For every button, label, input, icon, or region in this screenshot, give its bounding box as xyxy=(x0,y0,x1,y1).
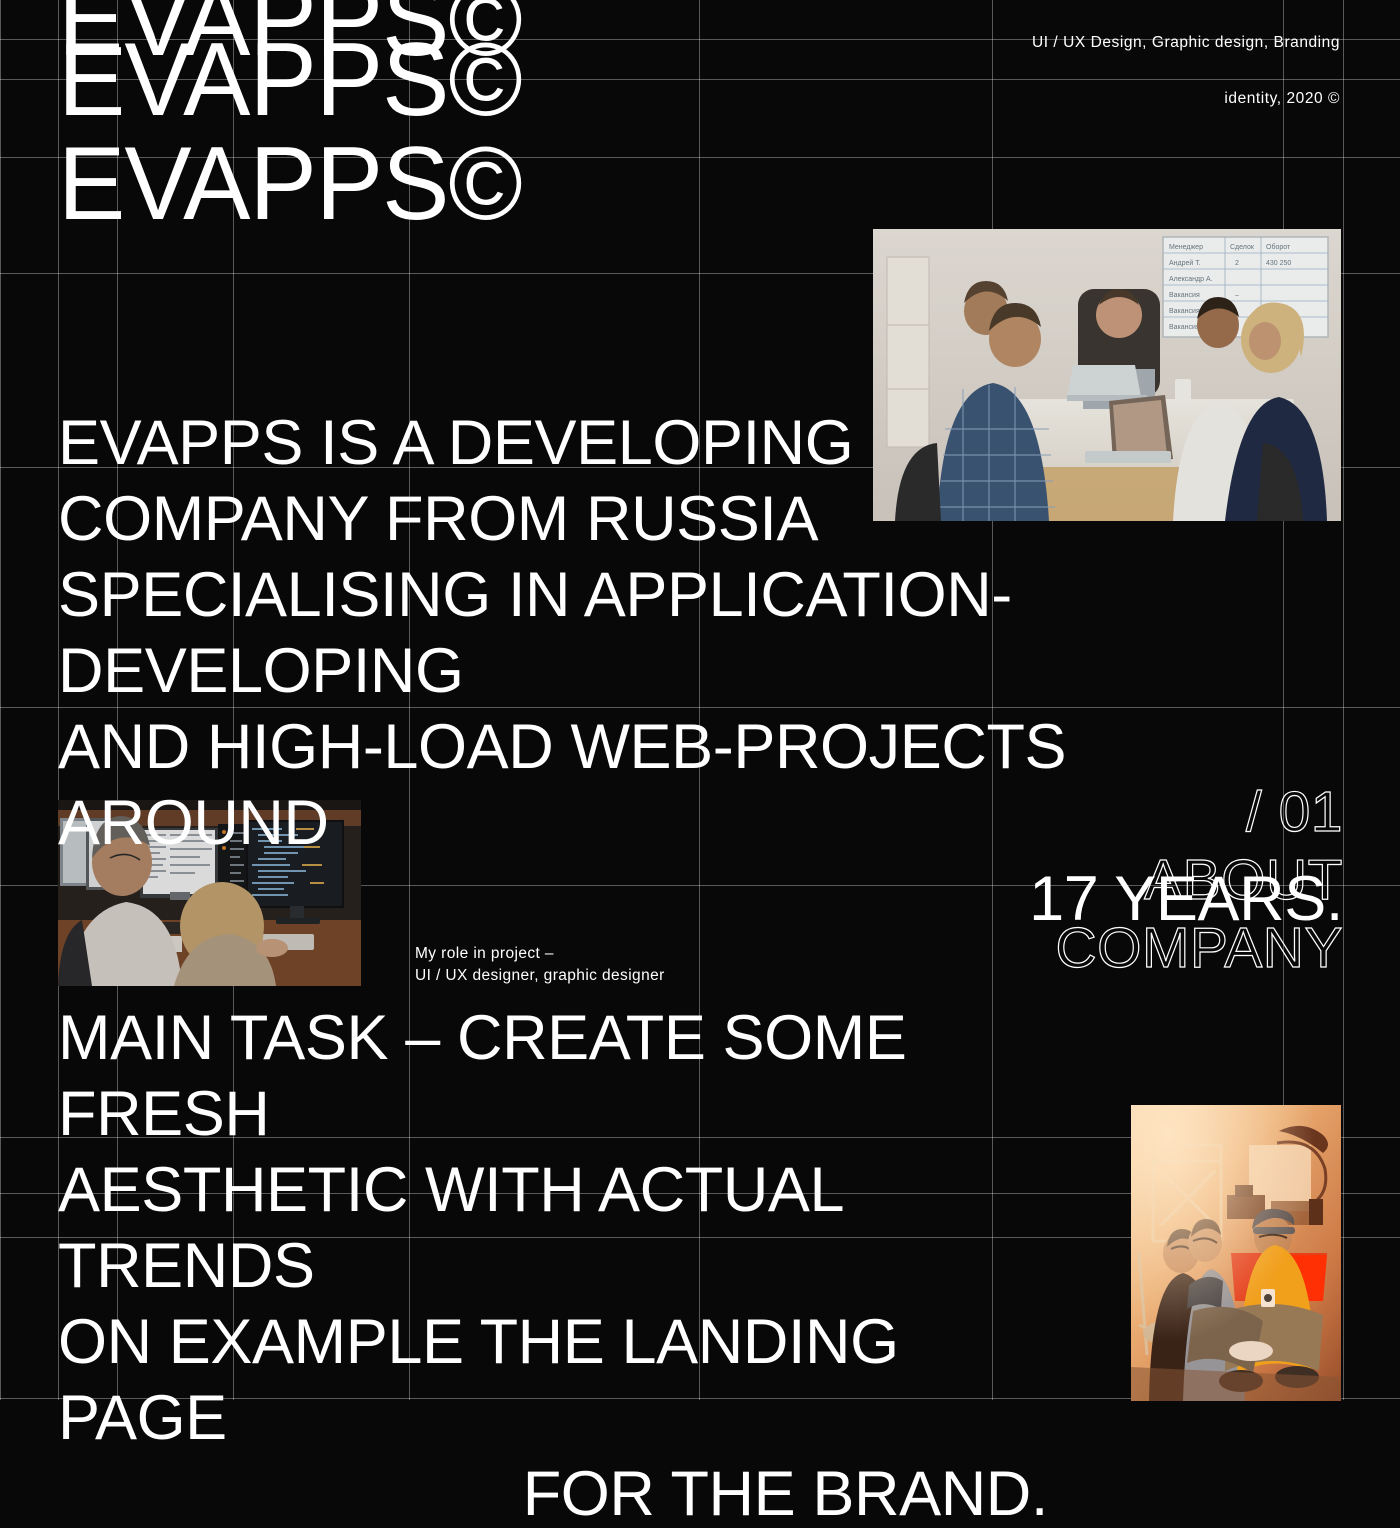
task-headline: MAIN TASK – CREATE SOME FRESH AESTHETIC … xyxy=(58,1000,1048,1528)
identity-year-label: identity, 2020 © xyxy=(1224,90,1340,108)
role-caption-line-2: UI / UX designer, graphic designer xyxy=(415,965,665,987)
task-headline-line-2: AESTHETIC WITH ACTUAL TRENDS xyxy=(58,1152,1048,1304)
role-caption-line-1: My role in project – xyxy=(415,943,665,965)
grid-vline xyxy=(1343,0,1344,1400)
page-root: МенеджерСделокОборот Андрей Т.2430 250 А… xyxy=(0,0,1400,1528)
about-headline-line-2: COMPANY FROM RUSSIA xyxy=(58,481,1343,557)
section-title-line2: COMPANY xyxy=(783,914,1343,982)
section-number: / 01 xyxy=(783,778,1343,846)
logo-evapps-2: EVAPPS© xyxy=(58,28,522,132)
about-headline-line-1: EVAPPS IS A DEVELOPING xyxy=(58,405,1343,481)
task-headline-line-4: FOR THE BRAND. xyxy=(58,1456,1048,1528)
grid-vline xyxy=(0,0,1,1400)
task-headline-line-1: MAIN TASK – CREATE SOME FRESH xyxy=(58,1000,1048,1152)
section-heading-about-company: / 01 ABOUT COMPANY xyxy=(783,778,1343,982)
about-headline-line-3: SPECIALISING IN APPLICATION-DEVELOPING xyxy=(58,557,1343,709)
role-caption: My role in project – UI / UX designer, g… xyxy=(415,943,665,987)
logo-evapps-3: EVAPPS© xyxy=(58,132,522,236)
team-outdoors-photo xyxy=(1131,1105,1341,1401)
section-title-line1: ABOUT xyxy=(783,846,1343,914)
task-headline-line-3: ON EXAMPLE THE LANDING PAGE xyxy=(58,1304,1048,1456)
services-label: UI / UX Design, Graphic design, Branding xyxy=(1032,34,1340,52)
